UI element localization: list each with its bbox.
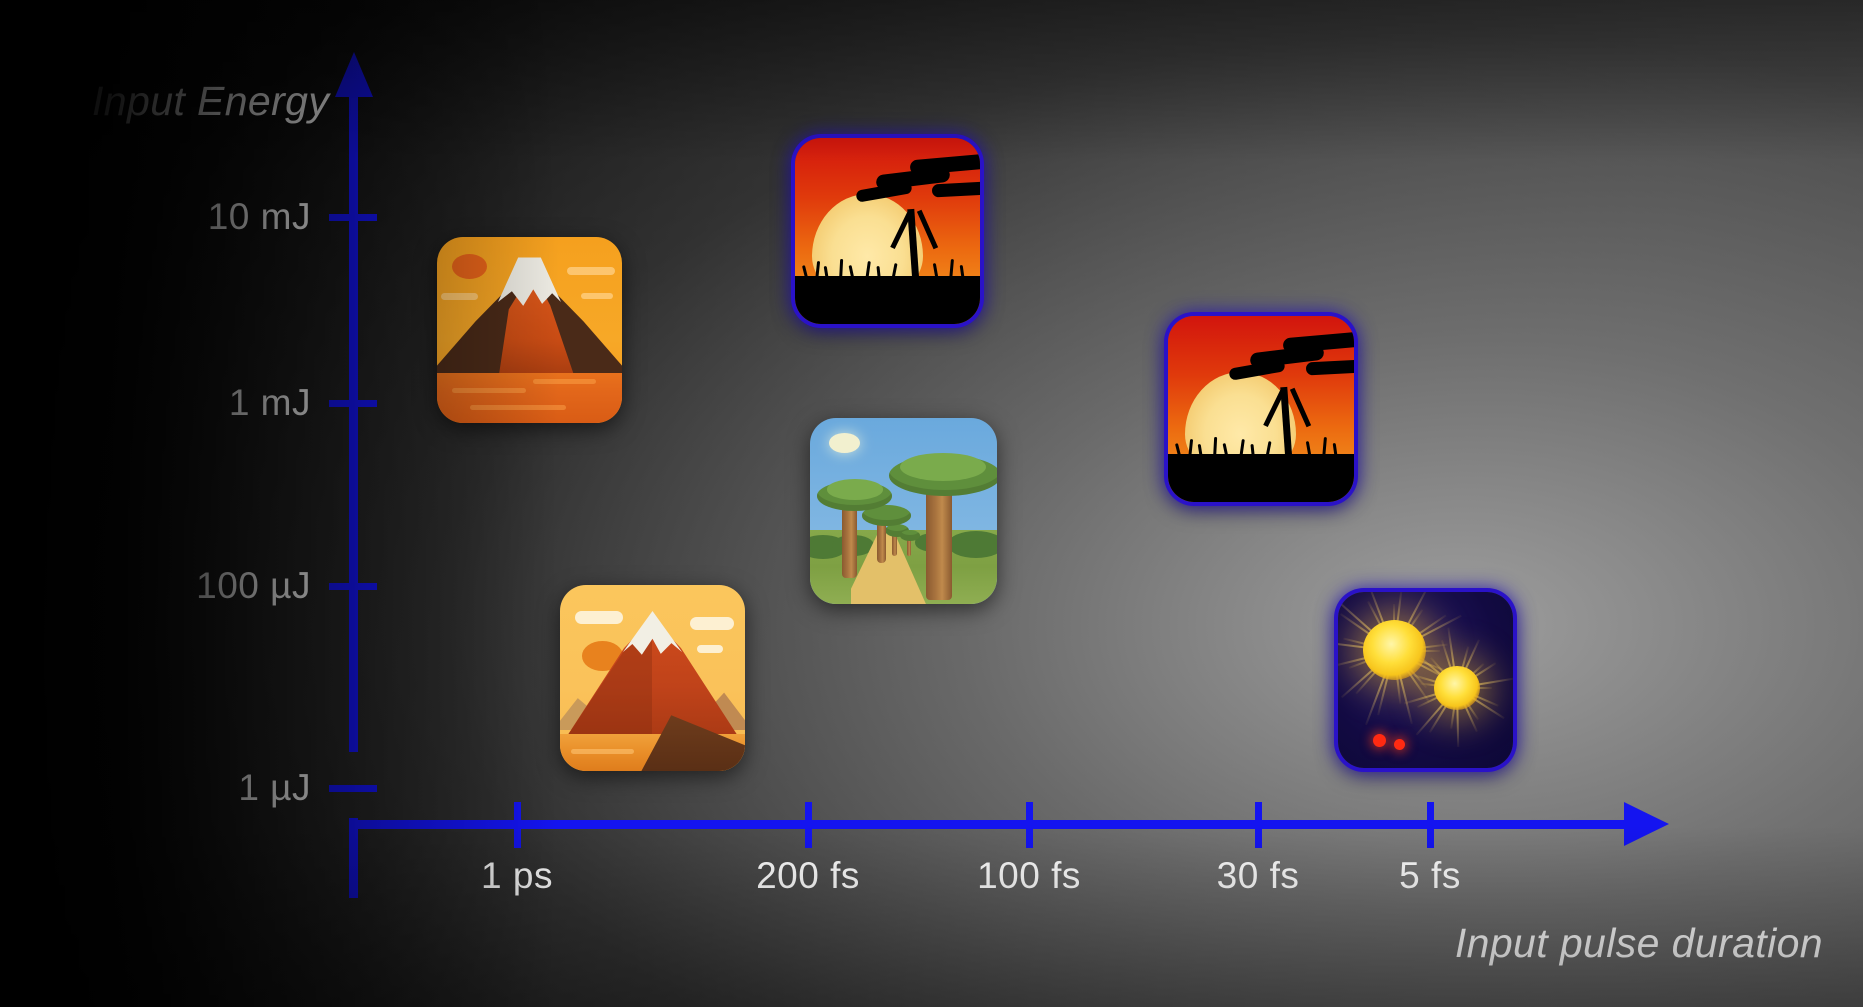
y-tick-mark bbox=[329, 583, 377, 590]
tree-trunk bbox=[877, 522, 886, 563]
tree-crown-highlight bbox=[827, 479, 883, 499]
y-axis-title: Input Energy bbox=[92, 78, 329, 125]
tree-trunk bbox=[926, 485, 952, 600]
y-axis-lower-stub bbox=[349, 818, 358, 898]
sun-large-icon bbox=[1363, 620, 1426, 680]
red-dot bbox=[1373, 734, 1386, 747]
tree-crown-highlight bbox=[900, 453, 986, 481]
cloud bbox=[441, 293, 478, 300]
red-mountain-thumbnail[interactable] bbox=[560, 585, 745, 771]
y-tick-label-1uj: 1 µJ bbox=[238, 767, 311, 809]
cloud bbox=[690, 617, 734, 630]
x-tick-mark bbox=[1427, 802, 1434, 848]
water-streak bbox=[452, 388, 526, 393]
grass-blade bbox=[1213, 437, 1217, 459]
bush bbox=[948, 531, 997, 557]
water-streak bbox=[571, 749, 634, 754]
x-tick-mark bbox=[514, 802, 521, 848]
x-tick-label-100fs: 100 fs bbox=[977, 855, 1081, 897]
y-tick-label-10mj: 10 mJ bbox=[208, 196, 311, 238]
water-streak bbox=[533, 379, 596, 384]
x-tick-label-5fs: 5 fs bbox=[1399, 855, 1461, 897]
x-axis-arrow-icon bbox=[1624, 802, 1669, 846]
tree-trunk bbox=[842, 504, 857, 578]
x-tick-mark bbox=[1255, 802, 1262, 848]
cloud bbox=[567, 267, 615, 275]
sun-icon bbox=[452, 254, 487, 279]
x-tick-mark bbox=[1026, 802, 1033, 848]
cloud bbox=[697, 645, 723, 653]
tree-canopy bbox=[932, 181, 980, 197]
ground-silhouette bbox=[1168, 454, 1354, 502]
figure-canvas: Input Energy Input pulse duration 10 mJ … bbox=[0, 0, 1863, 1007]
baobab-avenue-thumbnail[interactable] bbox=[810, 418, 997, 604]
y-tick-mark bbox=[329, 214, 377, 221]
two-sun-burst-thumbnail[interactable] bbox=[1338, 592, 1513, 768]
sun-rays-small bbox=[1338, 592, 1513, 768]
y-axis-arrow-icon bbox=[335, 52, 373, 97]
y-axis-line bbox=[349, 92, 358, 752]
x-tick-label-30fs: 30 fs bbox=[1217, 855, 1300, 897]
y-tick-mark bbox=[329, 400, 377, 407]
y-tick-mark bbox=[329, 785, 377, 792]
x-tick-label-200fs: 200 fs bbox=[756, 855, 860, 897]
sun-small-icon bbox=[1434, 666, 1480, 710]
mount-fuji-thumbnail[interactable] bbox=[437, 237, 622, 423]
x-axis-line bbox=[349, 820, 1629, 829]
y-tick-label-1mj: 1 mJ bbox=[229, 382, 311, 424]
savanna-sunset-thumbnail-2[interactable] bbox=[1168, 316, 1354, 502]
water-streak bbox=[470, 405, 566, 410]
tree-crown bbox=[900, 530, 921, 541]
tree-canopy bbox=[1305, 359, 1354, 375]
savanna-sunset-thumbnail-1[interactable] bbox=[795, 138, 980, 324]
cloud bbox=[581, 293, 612, 300]
x-axis-title: Input pulse duration bbox=[1455, 920, 1823, 967]
y-tick-label-100uj: 100 µJ bbox=[196, 565, 311, 607]
x-tick-mark bbox=[805, 802, 812, 848]
ground-silhouette bbox=[795, 276, 980, 324]
cloud bbox=[575, 611, 623, 624]
x-tick-label-1ps: 1 ps bbox=[481, 855, 553, 897]
